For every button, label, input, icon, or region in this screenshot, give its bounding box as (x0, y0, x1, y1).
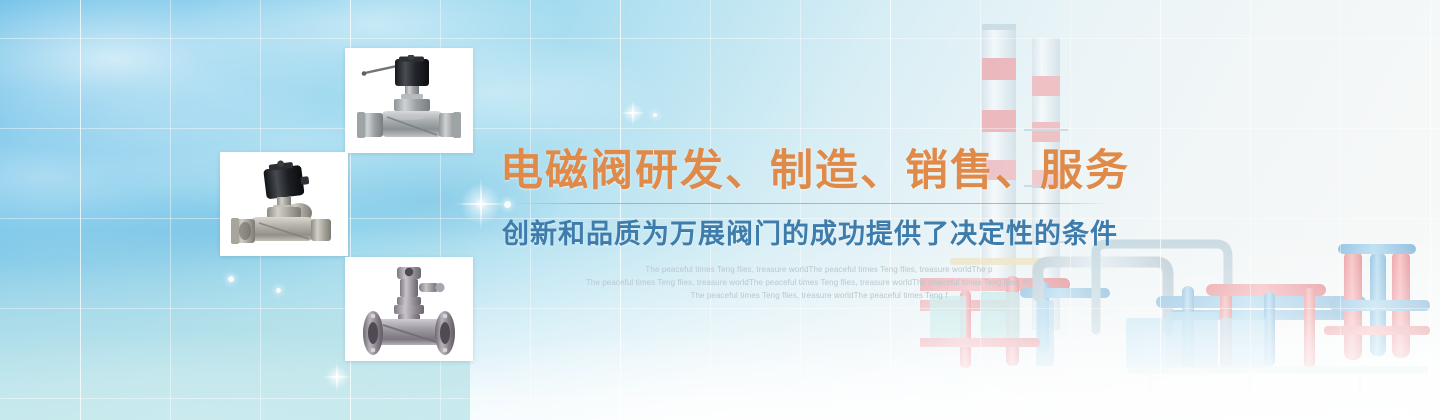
hero-banner: 电磁阀研发、制造、销售、服务 创新和品质为万展阀门的成功提供了决定性的条件 Th… (0, 0, 1440, 420)
hero-divider (512, 203, 1108, 204)
solenoid-valve-flanged-icon (353, 263, 465, 355)
hero-blurb: The peaceful times Teng flies, treasure … (500, 263, 1120, 302)
product-thumbnail-solenoid-valve-flanged[interactable] (345, 257, 473, 361)
solenoid-valve-threaded-compact-icon (229, 159, 339, 249)
product-thumbnail-solenoid-valve-threaded-compact[interactable] (220, 152, 348, 256)
sparkle-dot-icon (228, 276, 234, 282)
hero-blurb-line: The peaceful times Teng flies, treasure … (518, 263, 1120, 276)
hero-copy: 电磁阀研发、制造、销售、服务 创新和品质为万展阀门的成功提供了决定性的条件 Th… (500, 148, 1120, 302)
hero-blurb-line: The peaceful times Teng flies, treasure … (518, 289, 1120, 302)
product-thumbnail-solenoid-valve-threaded-lever[interactable] (345, 48, 473, 153)
hero-blurb-line: The peaceful times Teng flies, treasure … (494, 276, 1120, 289)
hero-headline: 电磁阀研发、制造、销售、服务 (500, 148, 1120, 194)
hero-subheadline: 创新和品质为万展阀门的成功提供了决定性的条件 (500, 212, 1120, 251)
sparkle-dot-icon (653, 113, 657, 117)
sparkle-dot-icon (276, 288, 281, 293)
solenoid-valve-threaded-lever-icon (353, 55, 465, 147)
